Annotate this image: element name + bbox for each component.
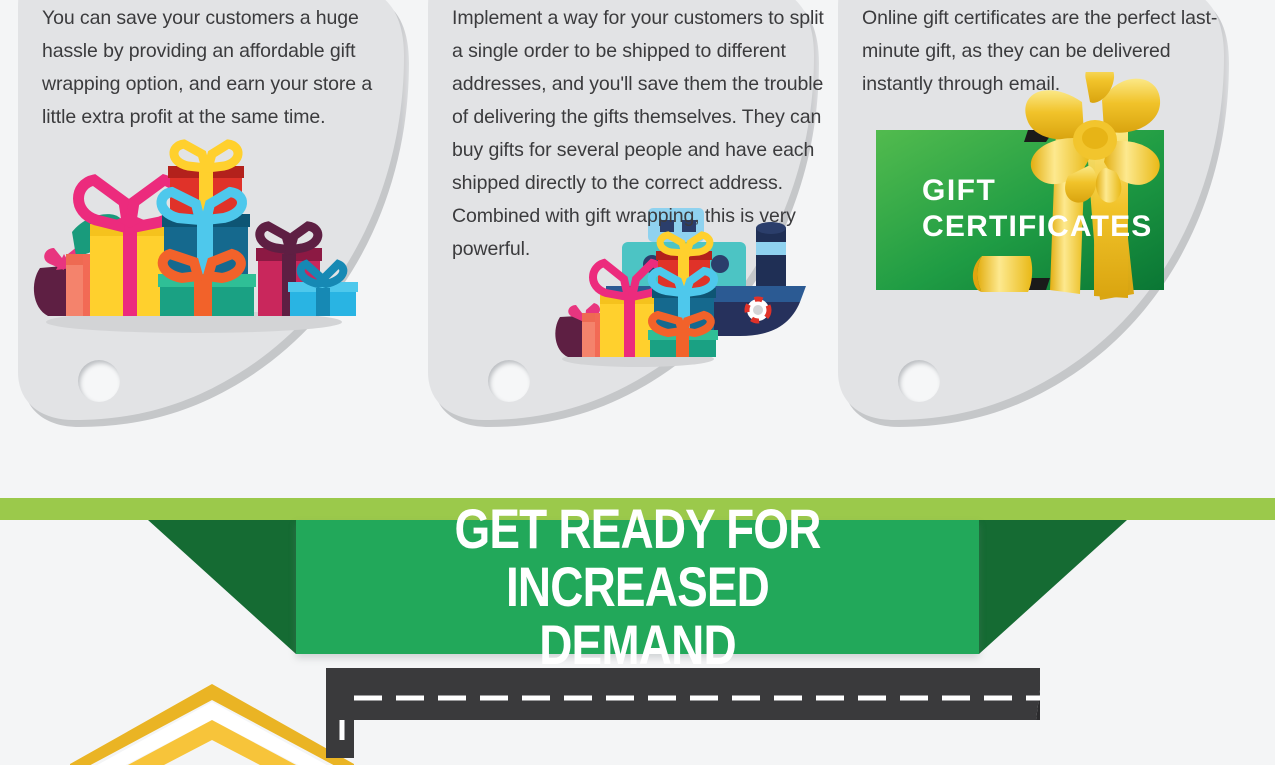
banner-fold-right — [979, 520, 1127, 654]
card-paragraph: Online gift certificates are the perfect… — [862, 2, 1230, 101]
tag-hole-punch — [78, 360, 120, 402]
tag-card-gift-wrapping: You can save your customers a huge hassl… — [14, 0, 404, 430]
banner-main: GET READY FOR INCREASED DEMAND — [296, 520, 979, 654]
section-banner: GET READY FOR INCREASED DEMAND — [0, 498, 1275, 668]
banner-fold-left — [148, 520, 296, 654]
card-text-gift-wrapping: You can save your customers a huge hassl… — [42, 2, 382, 134]
tag-card-split-shipping: Implement a way for your customers to sp… — [424, 0, 814, 430]
tag-hole-punch — [488, 360, 530, 402]
card-text-gift-certificates: Online gift certificates are the perfect… — [862, 2, 1230, 101]
card-paragraph: Implement a way for your customers to sp… — [452, 2, 824, 266]
banner-title: GET READY FOR INCREASED DEMAND — [357, 500, 917, 674]
road-icon — [230, 668, 1040, 758]
tag-cards-row: You can save your customers a huge hassl… — [0, 0, 1275, 470]
certificate-line-1: GIFT — [922, 174, 996, 207]
card-text-split-shipping: Implement a way for your customers to sp… — [452, 2, 824, 266]
tag-card-gift-certificates: Online gift certificates are the perfect… — [834, 0, 1224, 430]
tag-hole-punch — [898, 360, 940, 402]
gift-boxes-pile-icon — [24, 136, 364, 336]
section-road — [0, 668, 1275, 765]
infographic-canvas: You can save your customers a huge hassl… — [0, 0, 1275, 765]
card-paragraph: You can save your customers a huge hassl… — [42, 2, 382, 134]
